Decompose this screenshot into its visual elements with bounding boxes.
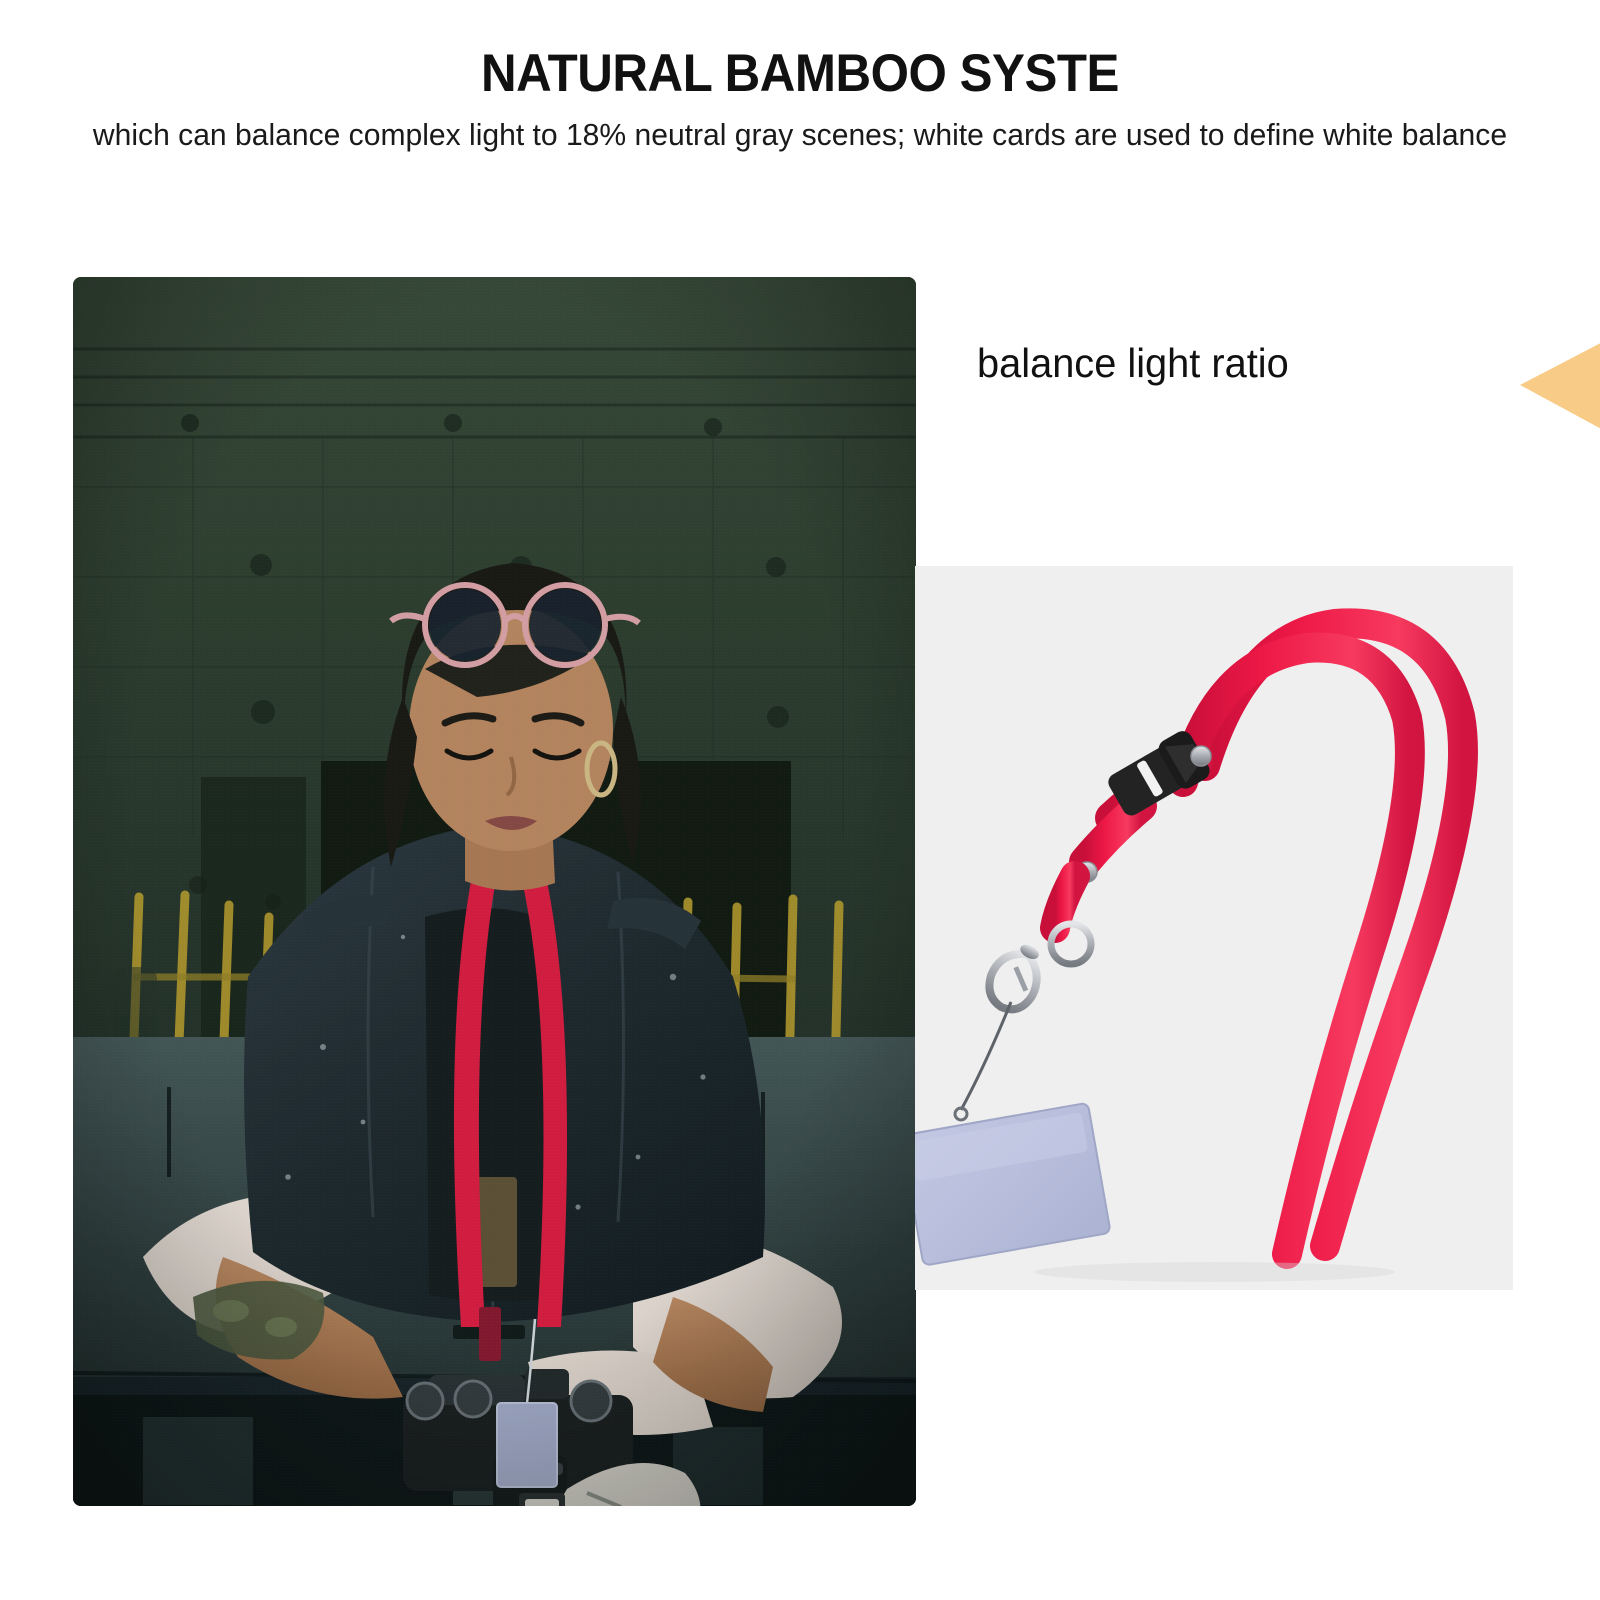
product-detail-page: NATURAL BAMBOO SYSTE which can balance c… xyxy=(0,0,1600,1600)
page-subtitle: which can balance complex light to 18% n… xyxy=(24,115,1576,156)
header-block: NATURAL BAMBOO SYSTE which can balance c… xyxy=(0,44,1600,156)
product-image-panel xyxy=(915,566,1513,1290)
page-title: NATURAL BAMBOO SYSTE xyxy=(56,44,1544,103)
lifestyle-photo xyxy=(73,277,916,1506)
balance-light-ratio-heading: balance light ratio xyxy=(977,340,1289,387)
yellow-triangle-icon xyxy=(1518,334,1600,438)
